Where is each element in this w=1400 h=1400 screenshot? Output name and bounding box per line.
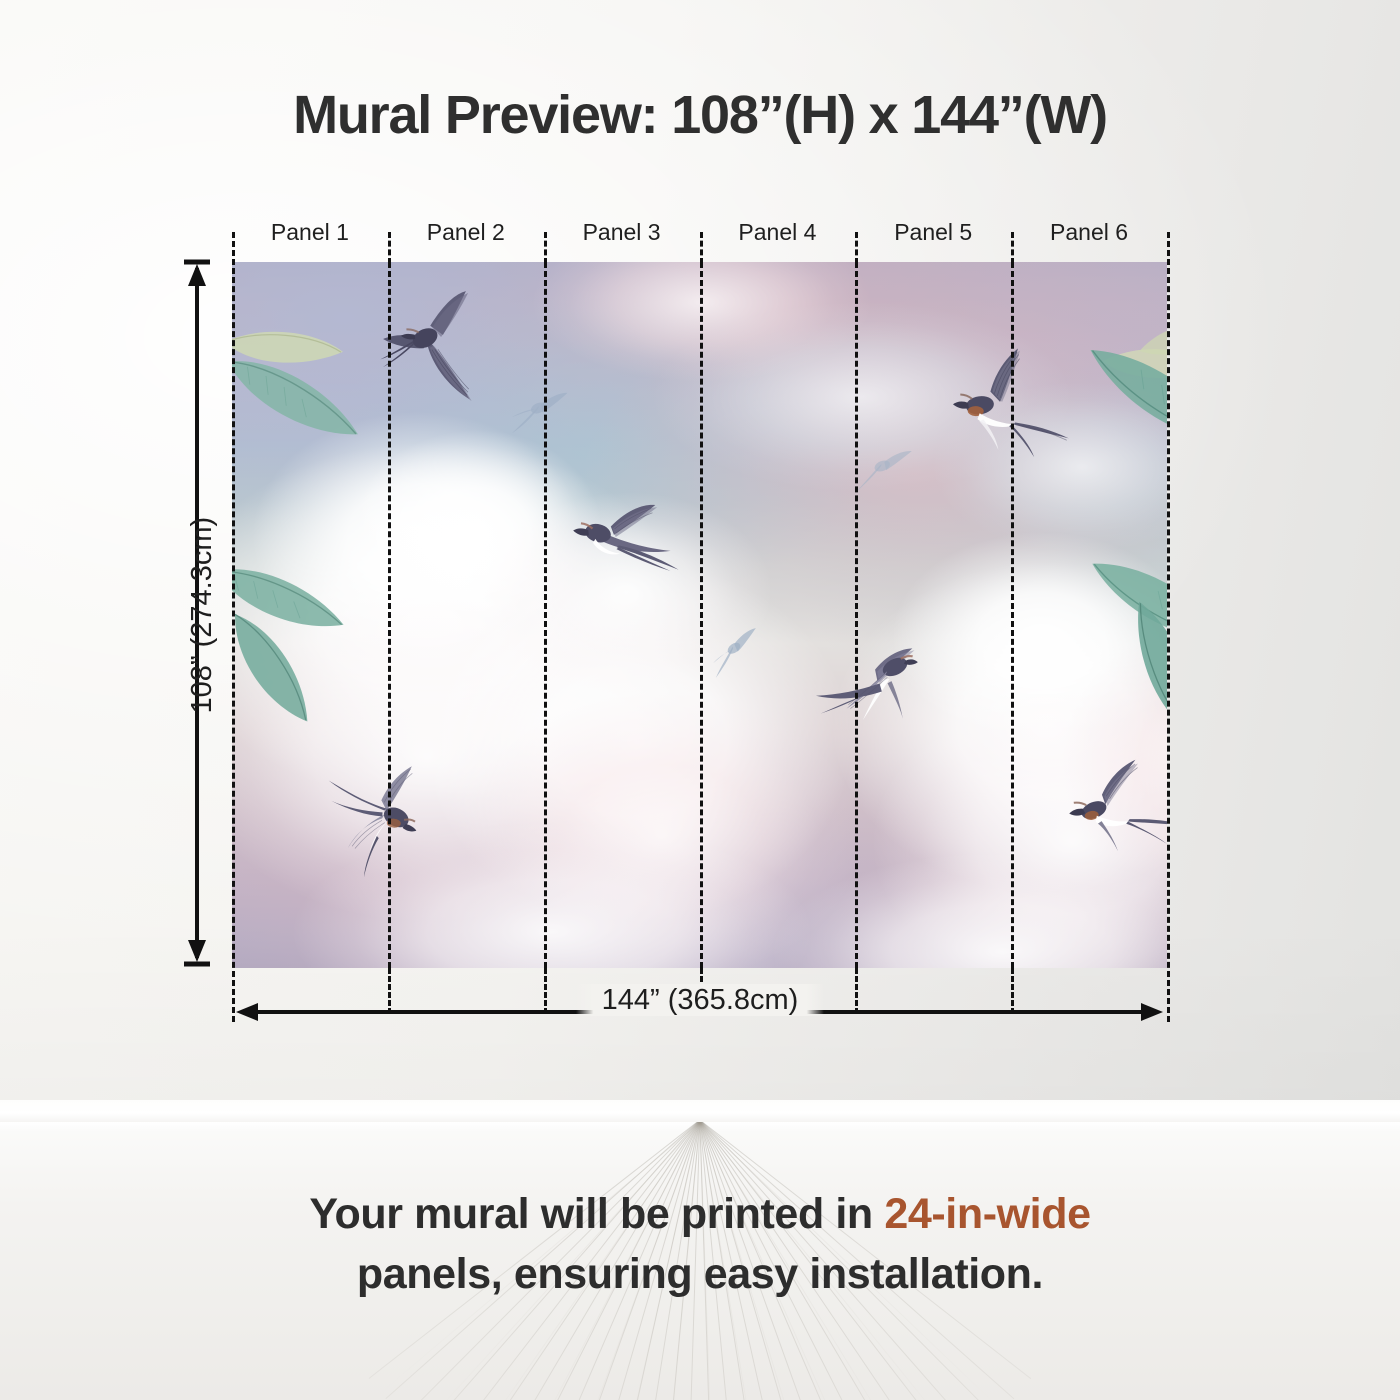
panel-divider-1 <box>388 262 391 968</box>
leaf-right-mid <box>1076 547 1167 654</box>
swallow-silhouette-mid <box>707 628 766 680</box>
caption-line-1-prefix: Your mural will be printed in <box>309 1190 884 1238</box>
panel-label-3: Panel 3 <box>544 214 700 254</box>
cloud-right-main <box>832 562 1167 892</box>
mural-preview-image <box>232 262 1167 968</box>
leaf-left-lower-a <box>232 555 353 641</box>
installation-caption: Your mural will be printed in 24-in-wide… <box>0 1184 1400 1304</box>
swallow-upper-left <box>358 288 496 415</box>
panel-divider-stub-3 <box>700 232 703 264</box>
leaf-right-edge-top <box>1131 295 1167 382</box>
swallow-silhouette-right <box>853 449 913 497</box>
cloud-left-lower <box>232 592 662 922</box>
leaf-right-lower <box>1093 589 1167 744</box>
panel-label-1: Panel 1 <box>232 214 388 254</box>
panel-divider-group <box>232 262 1167 968</box>
swallow-mid-left <box>559 496 691 575</box>
cloud-bottom-right <box>772 852 1167 968</box>
cloud-right-crest <box>892 532 1167 742</box>
page-title: Mural Preview: 108”(H) x 144”(W) <box>0 84 1400 146</box>
cloud-upper-haze <box>652 302 1072 492</box>
guide-edge-right <box>1167 232 1170 1022</box>
panel-label-2: Panel 2 <box>388 214 544 254</box>
cloud-main-left <box>232 442 692 802</box>
cloud-right-haze <box>932 382 1167 552</box>
leaf-left-upper <box>232 312 347 386</box>
swallow-right-upper <box>930 342 1074 467</box>
width-dimension-arrow <box>232 996 1167 1028</box>
cloud-center-top <box>482 492 772 692</box>
wall-baseboard <box>0 1100 1400 1124</box>
cloud-right-edge <box>1062 622 1167 902</box>
leaf-left-mid <box>232 343 375 452</box>
leaf-right-upper-a <box>1097 323 1167 401</box>
panel-divider-2 <box>544 262 547 968</box>
leaf-left-lower-b <box>232 601 344 736</box>
panel-divider-stub-1 <box>388 232 391 264</box>
guide-edge-left <box>232 232 235 1022</box>
caption-line-1: Your mural will be printed in 24-in-wide <box>0 1184 1400 1244</box>
cloud-bottom-band <box>292 822 812 968</box>
panel-label-5: Panel 5 <box>855 214 1011 254</box>
cloud-center-warm <box>462 692 862 968</box>
cloud-center-mass <box>422 562 852 922</box>
leaf-right-upper-b <box>1069 332 1167 457</box>
swallow-center-right <box>800 648 931 744</box>
swallow-lower-left <box>308 756 446 885</box>
swallow-right-lower <box>1054 754 1167 863</box>
panel-divider-3 <box>700 262 703 968</box>
panel-label-6: Panel 6 <box>1011 214 1167 254</box>
sky-gradient-upper <box>232 262 1167 968</box>
sky-gradient-mid <box>232 262 1167 968</box>
cloud-left-top <box>252 412 582 662</box>
panel-divider-5 <box>1011 262 1014 968</box>
panel-divider-4 <box>855 262 858 968</box>
caption-highlight: 24-in-wide <box>884 1190 1090 1238</box>
caption-line-2: panels, ensuring easy installation. <box>0 1244 1400 1304</box>
cloud-left-crest <box>352 430 602 630</box>
panel-label-4: Panel 4 <box>699 214 855 254</box>
swallow-silhouette-upper <box>508 387 569 441</box>
panel-divider-stub-4 <box>855 232 858 264</box>
sky-gradient-lower <box>232 262 1167 968</box>
panel-divider-stub-5 <box>1011 232 1014 264</box>
panel-divider-stub-2 <box>544 232 547 264</box>
cloud-right-lower <box>872 692 1167 968</box>
height-dimension-arrow <box>182 256 212 970</box>
cloud-top-pink <box>532 262 872 382</box>
